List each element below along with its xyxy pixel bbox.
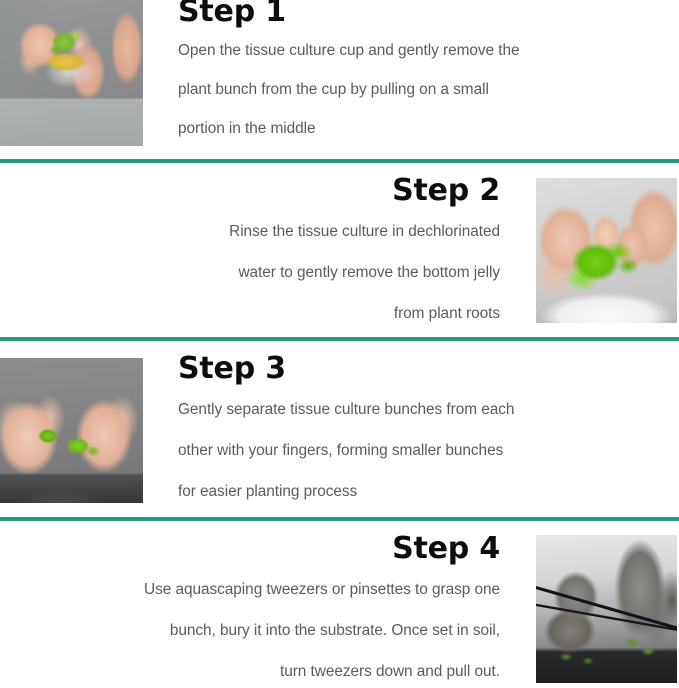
step-4-text-column: Step 4 Use aquascaping tweezers or pinse…	[60, 533, 500, 688]
steps-infographic: Step 1 Open the tissue culture cup and g…	[0, 0, 679, 683]
step-4-photo	[536, 535, 677, 683]
step-1-title: Step 1	[178, 0, 618, 28]
step-1-body-line-3: portion in the middle	[178, 112, 618, 145]
step-2-body-line-1: Rinse the tissue culture in dechlorinate…	[60, 215, 500, 248]
step-1-body-line-2: plant bunch from the cup by pulling on a…	[178, 73, 618, 106]
step-1-text-column: Step 1 Open the tissue culture cup and g…	[178, 0, 618, 145]
step-3-title: Step 3	[178, 353, 618, 385]
step-1-body-line-1: Open the tissue culture cup and gently r…	[178, 34, 618, 67]
step-3-body-line-1: Gently separate tissue culture bunches f…	[178, 393, 618, 426]
step-4-body-line-1: Use aquascaping tweezers or pinsettes to…	[60, 573, 500, 606]
step-2-photo	[536, 178, 677, 323]
step-block-2: Step 2 Rinse the tissue culture in dechl…	[0, 163, 679, 338]
step-block-1: Step 1 Open the tissue culture cup and g…	[0, 0, 679, 160]
step-1-photo	[0, 0, 143, 146]
step-2-text-column: Step 2 Rinse the tissue culture in dechl…	[60, 175, 500, 330]
hands-separating-plant-bunches-image	[0, 358, 143, 503]
step-3-text-column: Step 3 Gently separate tissue culture bu…	[178, 353, 618, 508]
step-2-body-line-2: water to gently remove the bottom jelly	[60, 256, 500, 289]
step-3-body-line-3: for easier planting process	[178, 475, 618, 508]
step-4-body-line-2: bunch, bury it into the substrate. Once …	[60, 614, 500, 647]
step-block-4: Step 4 Use aquascaping tweezers or pinse…	[0, 521, 679, 683]
hands-rinsing-plant-in-bowl-image	[536, 178, 677, 323]
step-4-title: Step 4	[60, 533, 500, 565]
step-block-3: Step 3 Gently separate tissue culture bu…	[0, 341, 679, 518]
aquascape-rocks-with-tweezers-image	[536, 535, 677, 683]
step-3-body-line-2: other with your fingers, forming smaller…	[178, 434, 618, 467]
step-2-title: Step 2	[60, 175, 500, 207]
step-2-body-line-3: from plant roots	[60, 297, 500, 330]
step-3-photo	[0, 358, 143, 503]
hands-opening-tissue-culture-cup-image	[0, 0, 143, 146]
